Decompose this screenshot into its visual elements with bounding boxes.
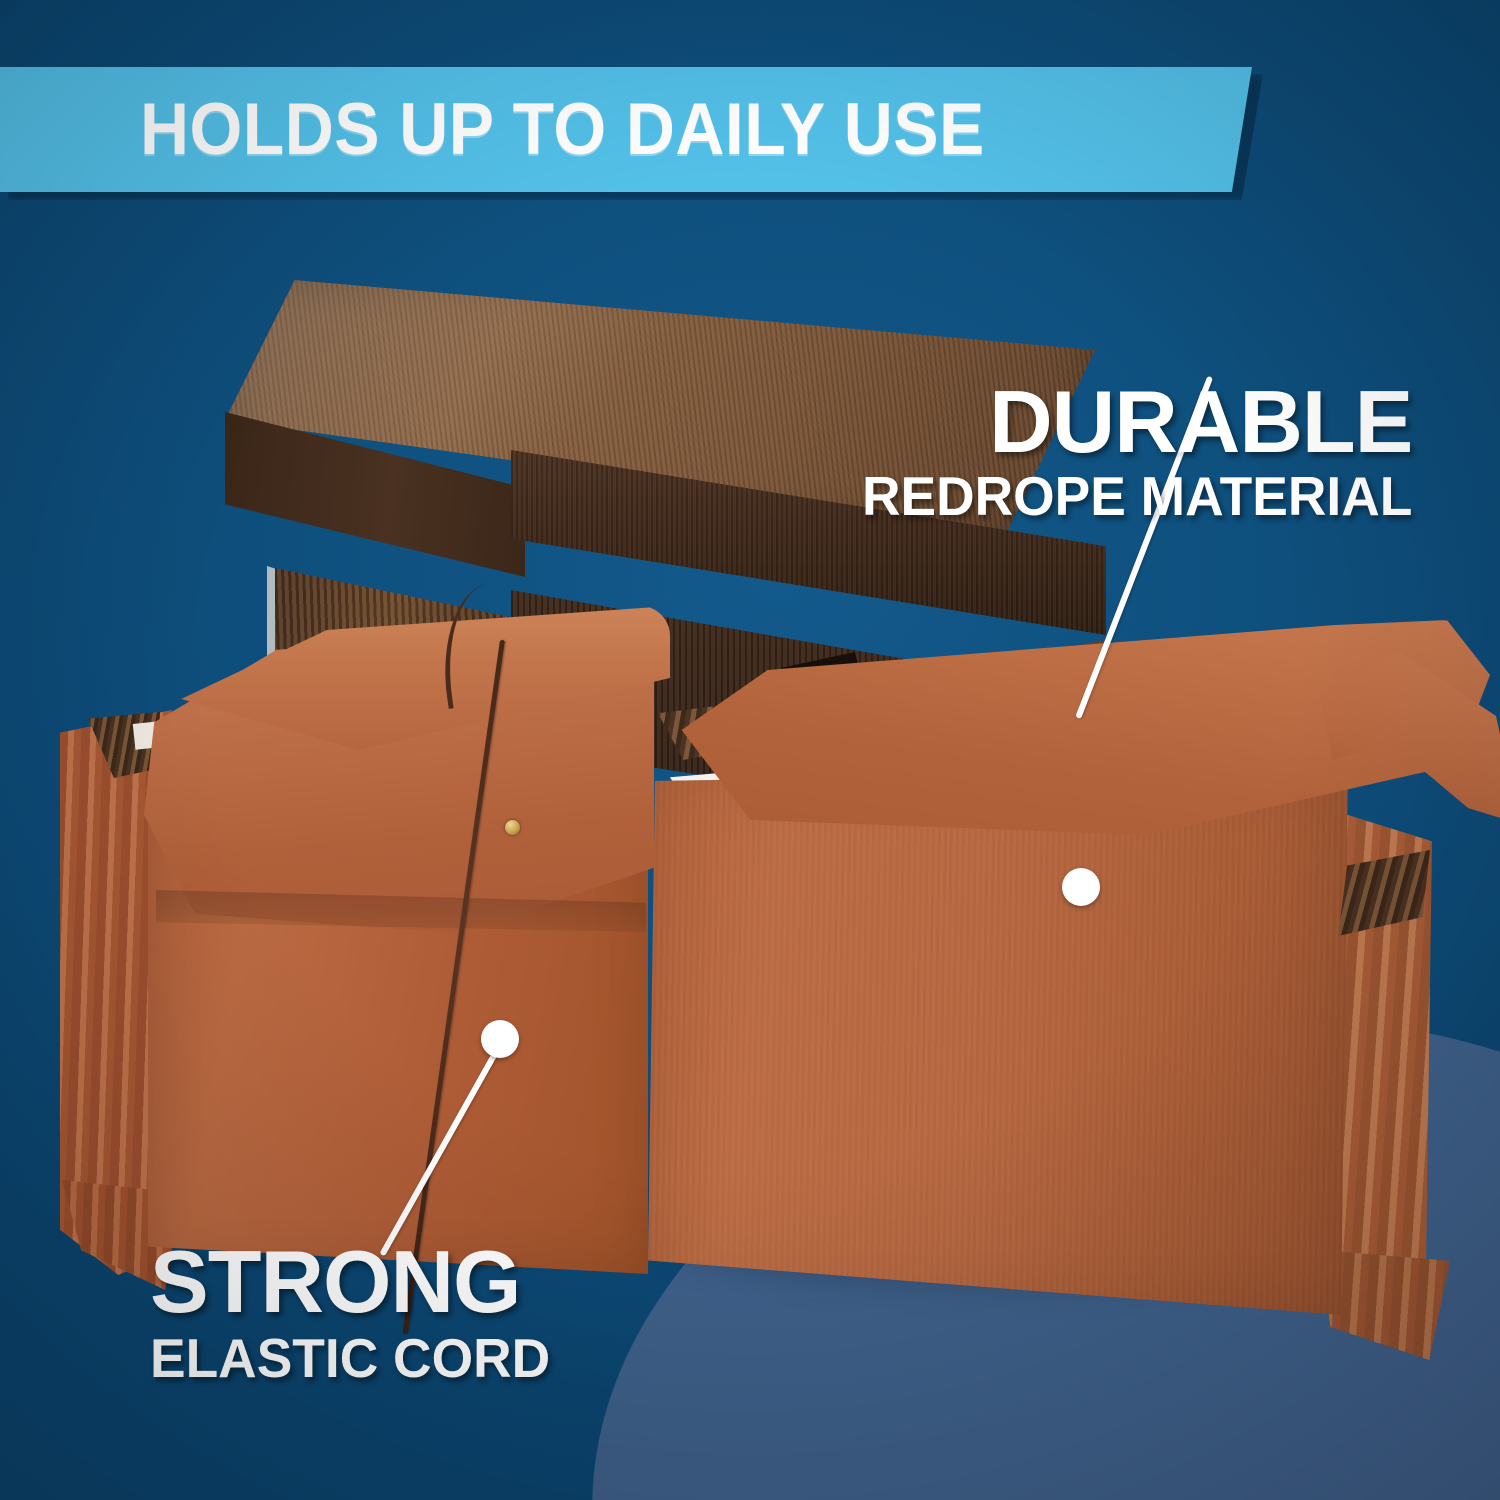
right-expanding-file xyxy=(620,620,1500,1320)
durable-callout: DURABLE REDROPE MATERIAL xyxy=(845,380,1412,523)
right-file-body xyxy=(648,770,1348,1315)
durable-callout-subtitle: REDROPE MATERIAL xyxy=(862,470,1412,523)
strong-callout: STRONG ELASTIC CORD xyxy=(150,1240,563,1385)
strong-callout-dot-icon xyxy=(481,1020,519,1058)
strong-callout-title: STRONG xyxy=(150,1240,563,1324)
durable-callout-dot-icon xyxy=(1062,868,1100,906)
headline-banner: HOLDS UP TO DAILY USE xyxy=(0,67,1252,192)
left-file-wallet xyxy=(60,590,650,1280)
durable-callout-title: DURABLE xyxy=(845,380,1412,464)
product-feature-image: Bankers Box HOLDS UP TO DAILY USE xyxy=(0,0,1500,1500)
headline-banner-text: HOLDS UP TO DAILY USE xyxy=(140,93,985,166)
strong-callout-subtitle: ELASTIC CORD xyxy=(150,1332,550,1385)
elastic-cord-grommet xyxy=(505,820,520,835)
